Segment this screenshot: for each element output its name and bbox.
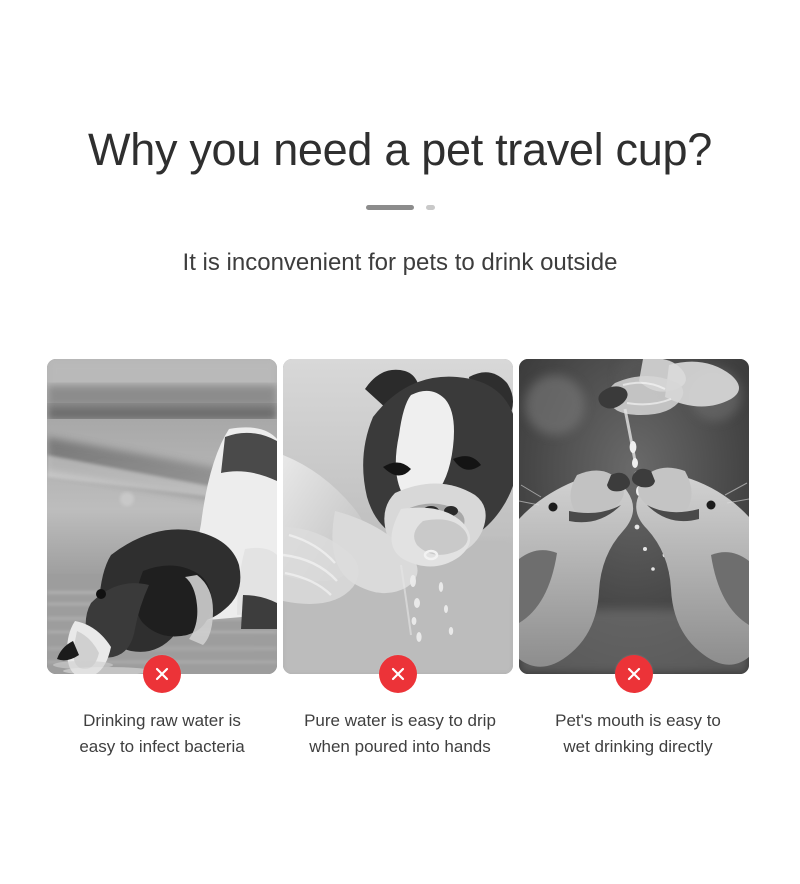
list-item: [283, 359, 513, 674]
cross-icon: [152, 664, 172, 684]
cross-icon: [388, 664, 408, 684]
photo-canvas-3: [519, 359, 749, 674]
photo-canvas-2: [283, 359, 513, 674]
photo-bulldog-drinking-from-hands: [283, 359, 513, 674]
title-divider: [0, 205, 800, 210]
page-subtitle: It is inconvenient for pets to drink out…: [0, 247, 800, 279]
page-title: Why you need a pet travel cup?: [0, 122, 800, 178]
promo-page: Why you need a pet travel cup? It is inc…: [0, 0, 800, 884]
divider-bar-long-icon: [366, 205, 414, 210]
photo-canvas-1: [47, 359, 277, 674]
status-badge: [143, 655, 181, 693]
card-caption: Drinking raw water is easy to infect bac…: [47, 708, 277, 760]
list-item: [519, 359, 749, 674]
status-badge: [379, 655, 417, 693]
cross-icon: [624, 664, 644, 684]
problem-card-list: [47, 359, 753, 674]
photo-retrievers-catching-poured-water: [519, 359, 749, 674]
list-item: [47, 359, 277, 674]
photo-dog-drinking-raw-water: [47, 359, 277, 674]
status-badge: [615, 655, 653, 693]
card-caption: Pure water is easy to drip when poured i…: [285, 708, 515, 760]
divider-bar-short-icon: [426, 205, 435, 210]
card-caption: Pet's mouth is easy to wet drinking dire…: [523, 708, 753, 760]
